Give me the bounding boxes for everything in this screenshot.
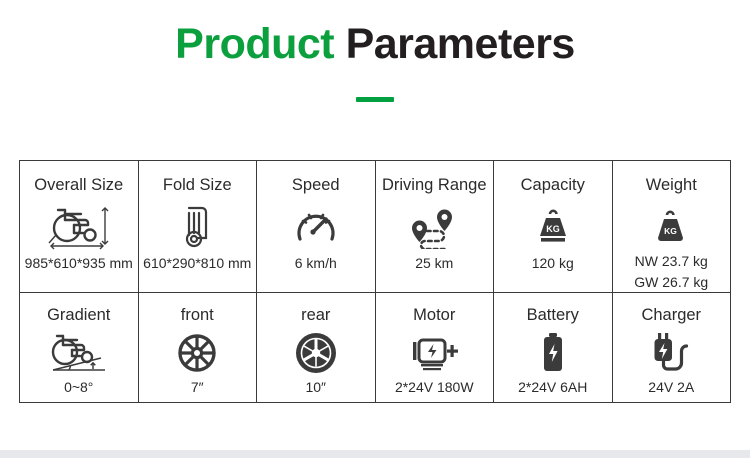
table-cell-rear-wheel: rear — [257, 293, 376, 403]
page-title: Product Parameters — [0, 22, 750, 67]
charger-plug-icon — [648, 331, 694, 375]
route-pins-icon — [403, 201, 465, 251]
cell-label: Weight — [646, 177, 697, 194]
table-row: Overall Size — [20, 161, 731, 293]
table-cell-front-wheel: front — [138, 293, 257, 403]
cell-label: Capacity — [521, 177, 585, 194]
wheelchair-incline-icon — [43, 331, 115, 375]
motor-icon — [406, 331, 462, 375]
page-title-highlight: Product — [175, 20, 334, 68]
cell-value: 25 km — [415, 255, 453, 273]
front-wheel-icon — [175, 331, 219, 375]
bottom-divider-band — [0, 450, 750, 458]
cell-label: Driving Range — [382, 177, 487, 194]
svg-text:KG: KG — [664, 226, 677, 236]
cell-value: 24V 2A — [648, 379, 694, 397]
battery-icon — [538, 331, 568, 375]
cell-label: Overall Size — [34, 177, 123, 194]
cell-label: Motor — [413, 307, 455, 324]
cell-value: 610*290*810 mm — [143, 255, 251, 273]
cell-value: 120 kg — [532, 255, 574, 273]
product-parameters-table: Overall Size — [19, 160, 731, 403]
table-cell-fold-size: Fold Size 610*290*810 mm — [138, 161, 257, 293]
svg-text:KG: KG — [546, 224, 560, 234]
cell-label: rear — [301, 307, 330, 324]
cell-value-net-weight: NW 23.7 kg — [635, 253, 708, 271]
table-cell-gradient: Gradient — [20, 293, 139, 403]
table-cell-battery: Battery 2*24V 6AH — [494, 293, 613, 403]
cell-value: 985*610*935 mm — [25, 255, 133, 273]
speedometer-icon — [293, 201, 339, 251]
cell-label: Charger — [641, 307, 701, 324]
table-cell-motor: Motor 2*24V 180W — [375, 293, 494, 403]
page-header: Product Parameters — [0, 0, 750, 102]
title-underline-rule — [356, 97, 394, 102]
cell-value: 0~8° — [64, 379, 93, 397]
table-row: Gradient — [20, 293, 731, 403]
cell-label: Battery — [527, 307, 579, 324]
cell-label: front — [181, 307, 214, 324]
cell-label: Speed — [292, 177, 340, 194]
weight-kg-icon: KG — [651, 201, 691, 251]
cell-label: Gradient — [47, 307, 110, 324]
table-cell-overall-size: Overall Size — [20, 161, 139, 293]
cell-value: 6 km/h — [295, 255, 337, 273]
cell-value: 2*24V 6AH — [518, 379, 587, 397]
folded-wheelchair-icon — [177, 201, 217, 251]
cell-value: 7″ — [191, 379, 204, 397]
table-cell-speed: Speed — [257, 161, 376, 293]
table-cell-driving-range: Driving Range 25 km — [375, 161, 494, 293]
table-cell-weight: Weight KG NW 23.7 kg GW 26.7 kg — [612, 161, 731, 293]
wheelchair-dimensions-icon — [43, 201, 115, 251]
cell-value-gross-weight: GW 26.7 kg — [634, 274, 708, 292]
cell-value: 2*24V 180W — [395, 379, 474, 397]
table-cell-charger: Charger 24V 2A — [612, 293, 731, 403]
table-cell-capacity: Capacity KG 120 kg — [494, 161, 613, 293]
rear-wheel-icon — [293, 331, 339, 375]
page-title-rest: Parameters — [346, 20, 575, 68]
cell-value: 10″ — [305, 379, 326, 397]
weight-kg-icon: KG — [530, 201, 576, 251]
cell-label: Fold Size — [163, 177, 232, 194]
